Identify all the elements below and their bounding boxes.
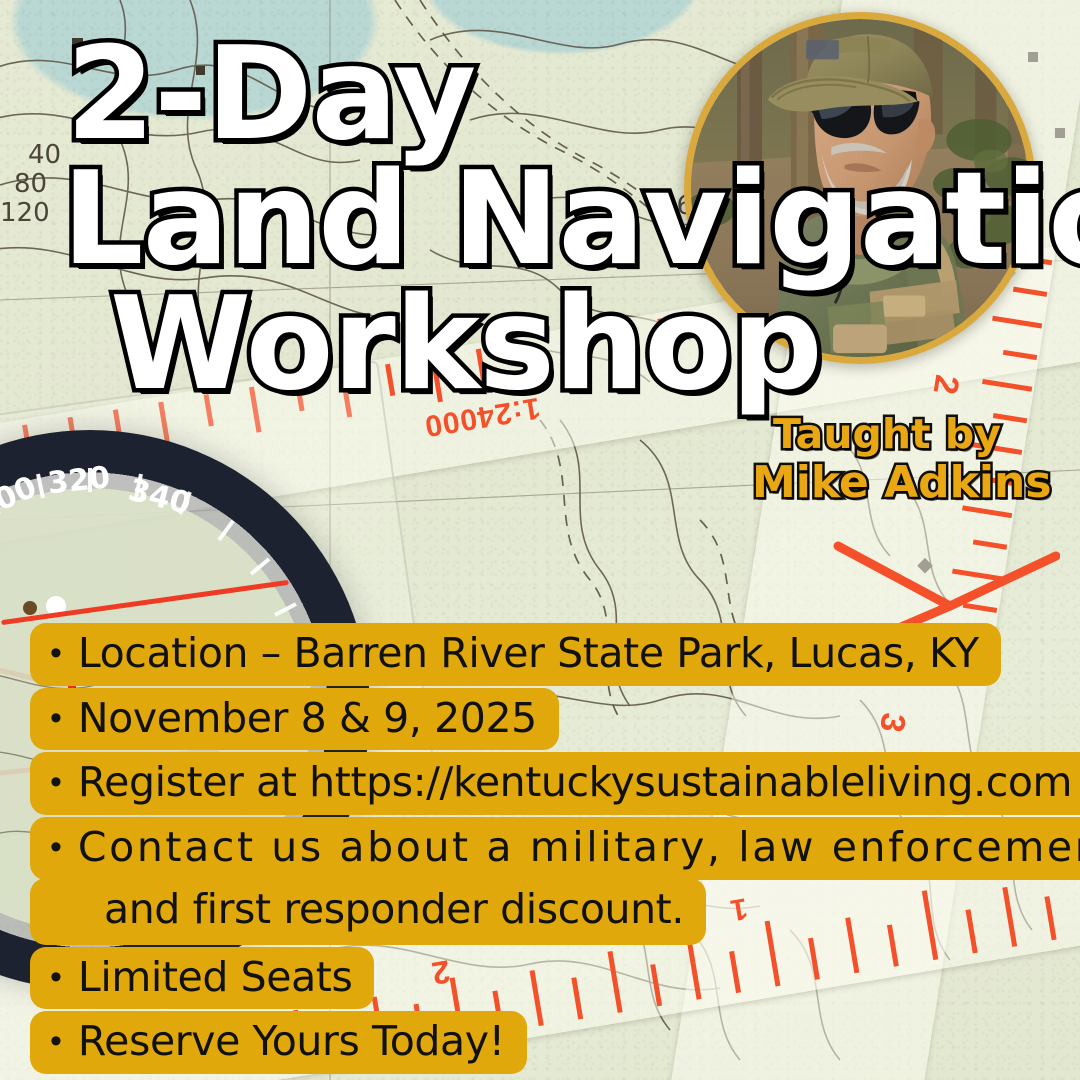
- bullet-icon: •: [50, 960, 62, 994]
- detail-text-discount-continued: and first responder discount.: [104, 885, 684, 933]
- detail-pill-register[interactable]: • Register at https://kentuckysustainabl…: [30, 752, 1080, 815]
- svg-text:120: 120: [0, 198, 50, 228]
- svg-text:340: 340: [125, 473, 194, 522]
- detail-text-dates: November 8 & 9, 2025: [78, 697, 537, 740]
- list-item: • Contact us about a military, law enfor…: [30, 817, 1045, 945]
- detail-pill-reserve[interactable]: • Reserve Yours Today!: [30, 1011, 527, 1074]
- detail-text-register-url[interactable]: Register at https://kentuckysustainablel…: [78, 761, 1072, 804]
- instructor-photo-image: [691, 19, 1029, 357]
- bullet-icon: •: [50, 636, 62, 670]
- detail-text-limited-seats: Limited Seats: [78, 956, 353, 999]
- svg-text:300: 300: [0, 470, 42, 527]
- detail-text-location: Location – Barren River State Park, Luca…: [78, 632, 979, 675]
- svg-text:80: 80: [14, 169, 47, 199]
- list-item: • Location – Barren River State Park, Lu…: [30, 623, 1045, 686]
- svg-text:320: 320: [46, 460, 112, 501]
- detail-pill-discount-continued: and first responder discount.: [30, 878, 706, 945]
- list-item: • November 8 & 9, 2025: [30, 688, 1045, 751]
- bullet-icon: •: [50, 830, 62, 864]
- details-list: • Location – Barren River State Park, Lu…: [30, 623, 1045, 1076]
- bullet-icon: •: [50, 765, 62, 799]
- detail-text-discount: Contact us about a military, law enforce…: [78, 826, 1080, 869]
- detail-pill-location: • Location – Barren River State Park, Lu…: [30, 623, 1001, 686]
- detail-text-reserve[interactable]: Reserve Yours Today!: [78, 1020, 505, 1063]
- svg-text:40: 40: [28, 140, 61, 170]
- instructor-photo: [684, 12, 1036, 364]
- detail-pill-dates: • November 8 & 9, 2025: [30, 688, 559, 751]
- list-item: • Limited Seats: [30, 947, 1045, 1010]
- detail-pill-limited-seats: • Limited Seats: [30, 947, 374, 1010]
- bullet-icon: •: [50, 701, 62, 735]
- list-item: • Reserve Yours Today!: [30, 1011, 1045, 1074]
- list-item: • Register at https://kentuckysustainabl…: [30, 752, 1045, 815]
- bullet-icon: •: [50, 1024, 62, 1058]
- poster-canvas: 40 80 120 160: [0, 0, 1080, 1080]
- detail-pill-discount: • Contact us about a military, law enfor…: [30, 817, 1080, 880]
